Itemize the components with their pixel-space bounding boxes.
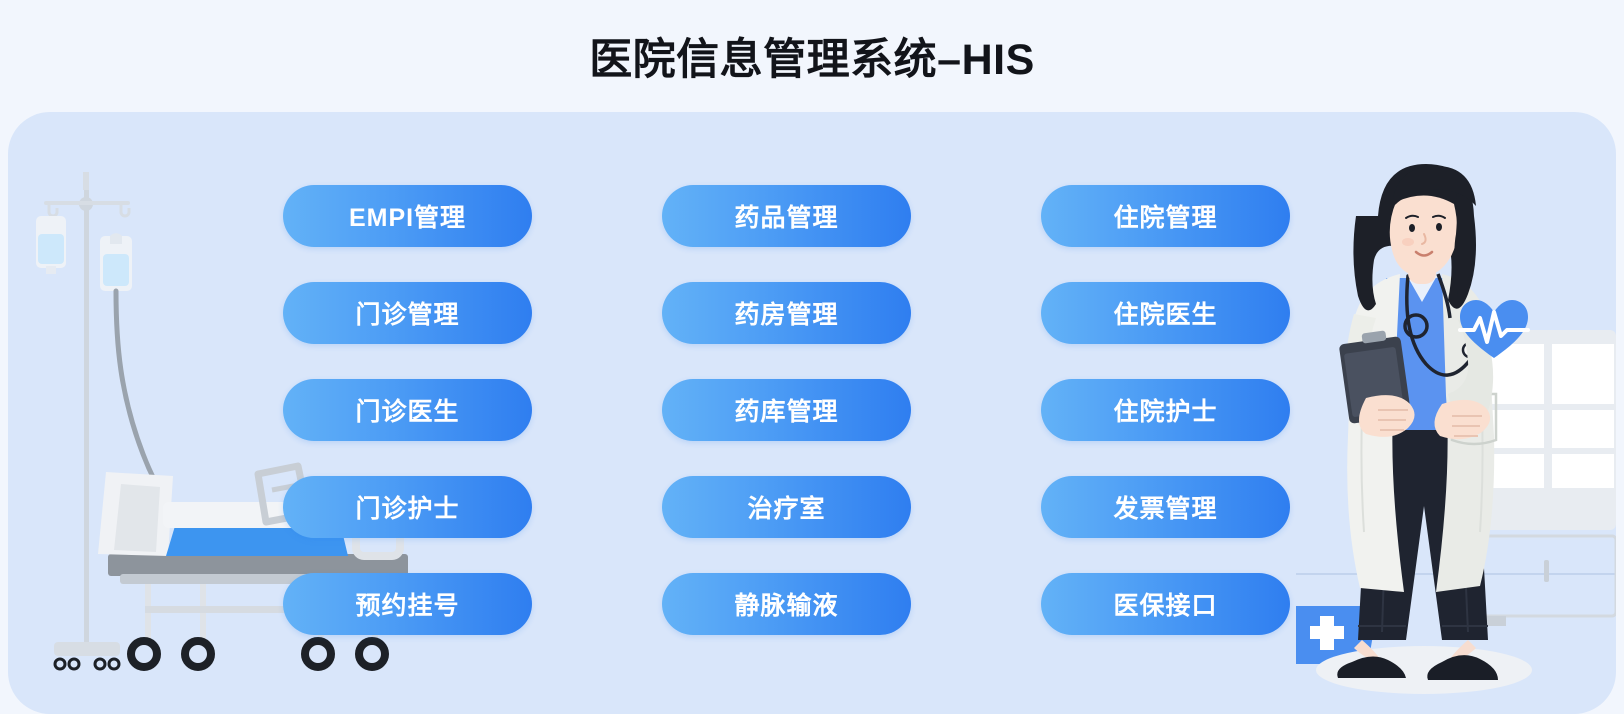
iv-stand-wheel-3 [95,659,105,669]
cabinet-lower-door [1476,536,1616,616]
menu-button-pharmacy-management[interactable]: 药房管理 [662,282,911,344]
cabinet-foot [1484,616,1506,626]
iv-bag-left-neck [46,266,56,274]
cabinet-glass-5 [1482,454,1544,488]
menu-button-grid: EMPI管理 门诊管理 门诊医生 门诊护士 预约挂号 药品管理 药房管理 药库管… [283,185,1298,635]
clipboard-clip [1361,330,1386,343]
menu-column-2: 药品管理 药房管理 药库管理 治疗室 静脉输液 [662,185,911,635]
doctor-coat-left [1347,274,1404,592]
doctor-arm-left [1346,314,1394,434]
bed-leg-2 [200,584,206,644]
menu-button-outpatient-doctor[interactable]: 门诊医生 [283,379,532,441]
medical-cross-icon [1310,616,1344,650]
bed-wheel-4 [359,641,385,667]
clipboard [1339,336,1412,424]
iv-stand-top-post [83,172,89,190]
doctor-coat-seam-right [1478,344,1483,532]
doctor-hair-back [1353,164,1476,310]
doctor-mouth [1416,252,1432,256]
doctor-hand-right-fingers [1452,416,1482,436]
menu-button-outpatient-management[interactable]: 门诊管理 [283,282,532,344]
doctor-hand-right [1434,400,1490,439]
clipboard-paper [1344,347,1404,418]
doctor-collar-v [1406,274,1438,302]
menu-button-drug-management[interactable]: 药品管理 [662,185,911,247]
doctor-eye-right [1436,223,1442,231]
doctor-coat-right [1436,274,1494,592]
cabinet-glass-3 [1482,410,1544,448]
doctor-face [1390,195,1457,276]
bed-leg-1 [145,584,151,644]
cabinet-glass-1 [1482,344,1544,404]
menu-button-inpatient-management[interactable]: 住院管理 [1041,185,1290,247]
doctor-neck [1408,250,1436,284]
doctor-cheek-blush [1402,238,1414,246]
doctor-trouser-crease-left [1382,454,1388,632]
cabinet-glass-4 [1552,410,1614,448]
page-title: 医院信息管理系统–HIS [0,30,1624,90]
iv-bag-left [36,216,66,268]
iv-bag-right [100,236,132,291]
iv-bag-right-fluid [103,254,129,286]
doctor-trousers [1358,424,1488,640]
doctor-hand-left [1359,395,1415,437]
menu-button-invoice-management[interactable]: 发票管理 [1041,476,1290,538]
cabinet-glass-2 [1552,344,1614,404]
cabinet-glass-6 [1552,454,1614,488]
doctor-brow-right [1433,216,1445,218]
iv-stand-pole [84,184,89,644]
bed-backrest [98,472,173,556]
iv-tube [116,291,200,546]
iv-hook-right [121,204,129,216]
menu-button-medical-insurance-interface[interactable]: 医保接口 [1041,573,1290,635]
menu-button-intravenous-infusion[interactable]: 静脉输液 [662,573,911,635]
iv-stand-crossbar [44,201,130,205]
iv-stand-wheel-1 [55,659,65,669]
heart-shape [1460,300,1528,358]
cabinet-body [1468,330,1616,530]
doctor-trouser-crease-right [1460,454,1468,632]
iv-bag-right-cap [110,233,122,244]
doctor-nose [1422,234,1426,244]
doctor-eye-left [1409,224,1415,232]
iv-stand-knob [79,197,93,211]
doctor-shadow [1316,646,1532,694]
menu-button-appointment-registration[interactable]: 预约挂号 [283,573,532,635]
iv-stand-wheel-4 [109,659,119,669]
menu-button-inpatient-nurse[interactable]: 住院护士 [1041,379,1290,441]
doctor-coat-seam-left [1361,344,1366,532]
doctor-hand-left-fingers [1378,410,1408,430]
bed-wheel-1 [131,641,157,667]
menu-button-drug-warehouse-management[interactable]: 药库管理 [662,379,911,441]
ecg-line [1460,312,1528,342]
bed-backrest-pad [114,484,160,552]
menu-button-empi-management[interactable]: EMPI管理 [283,185,532,247]
medical-cross-box [1296,606,1378,664]
doctor-arm-right [1448,316,1493,430]
cabinet-handle [1544,560,1549,582]
menu-button-treatment-room[interactable]: 治疗室 [662,476,911,538]
bed-wheel-2 [185,641,211,667]
heartbeat-icon [1458,298,1530,360]
main-panel: EMPI管理 门诊管理 门诊医生 门诊护士 预约挂号 药品管理 药房管理 药库管… [8,112,1616,714]
doctor-shoe-right [1427,655,1498,680]
bed-wheel-3 [305,641,331,667]
menu-column-3: 住院管理 住院医生 住院护士 发票管理 医保接口 [1041,185,1290,635]
iv-hook-left [49,204,57,216]
stethoscope-earpiece [1463,343,1477,357]
menu-button-outpatient-nurse[interactable]: 门诊护士 [283,476,532,538]
doctor-scrub-top [1378,278,1466,430]
doctor-foot-left [1354,640,1382,662]
stethoscope-arm-right [1438,274,1450,318]
iv-stand-base [54,642,120,656]
iv-bag-left-fluid [38,234,64,264]
menu-column-1: EMPI管理 门诊管理 门诊医生 门诊护士 预约挂号 [283,185,532,635]
iv-stand-wheel-2 [69,659,79,669]
doctor-shoe-left [1337,656,1406,678]
doctor-brow-left [1406,216,1418,218]
menu-button-inpatient-doctor[interactable]: 住院医生 [1041,282,1290,344]
doctor-hair-front [1392,166,1476,208]
doctor-illustration [1296,154,1616,714]
doctor-coat-pocket [1452,394,1496,444]
stethoscope-tube [1407,276,1480,375]
doctor-foot-right [1448,640,1476,662]
stethoscope-chestpiece [1405,315,1427,337]
doctor-hair-side [1454,194,1474,298]
